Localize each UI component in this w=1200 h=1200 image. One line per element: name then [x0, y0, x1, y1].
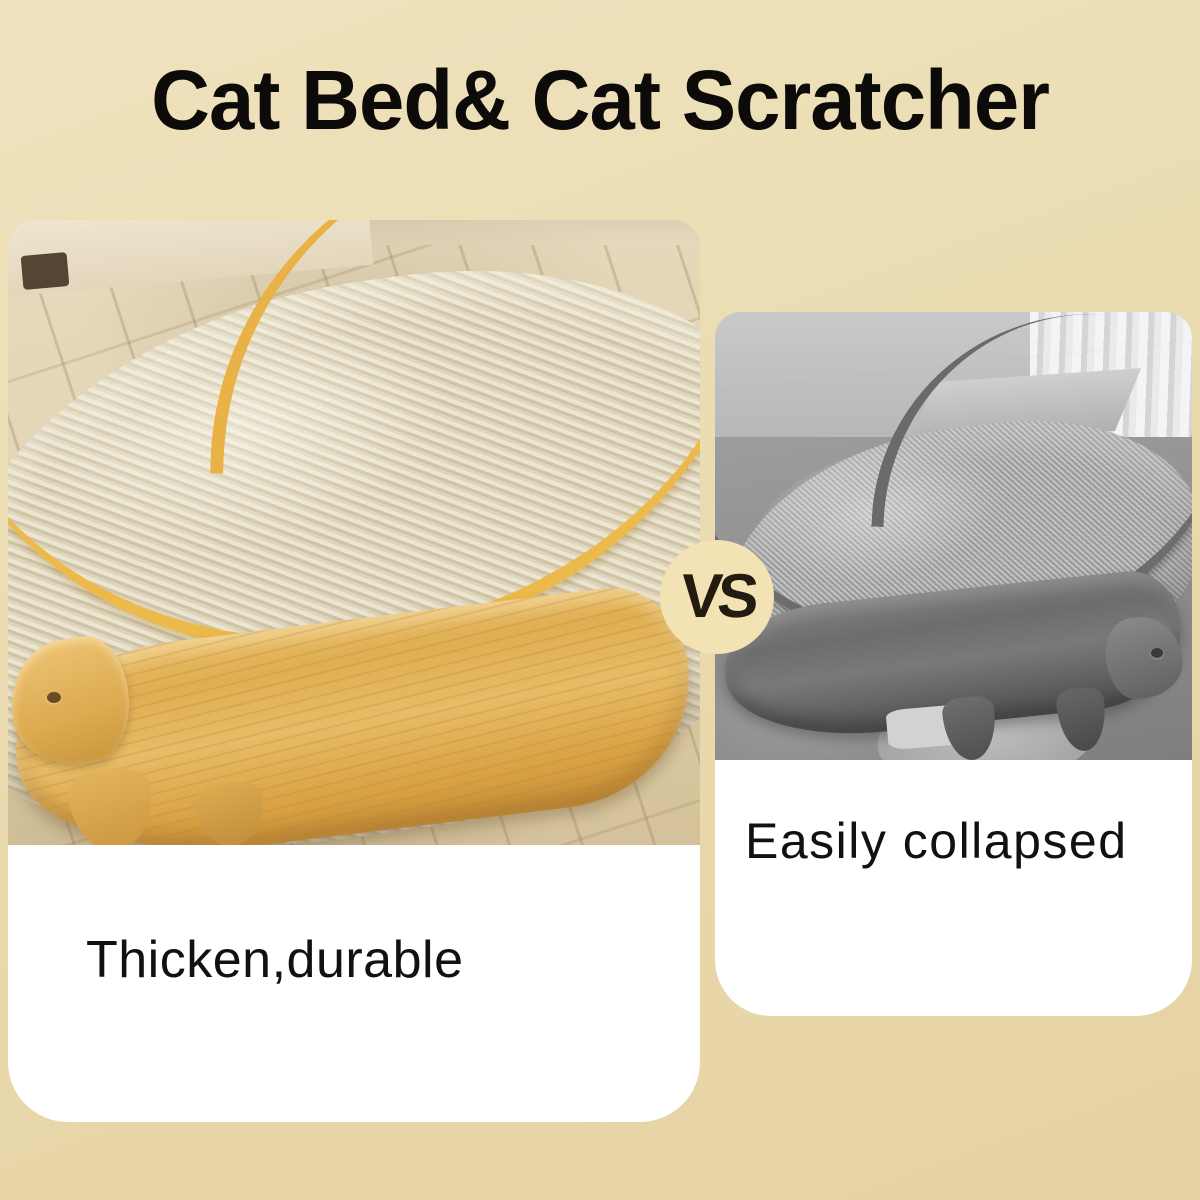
caption-card-right [715, 760, 1192, 1016]
page-title: Cat Bed& Cat Scratcher [18, 58, 1182, 142]
vs-badge: VS [660, 540, 774, 654]
screw-hole-icon [47, 692, 61, 703]
product-photo-left [8, 220, 700, 845]
caption-right-text: Easily collapsed [745, 812, 1128, 870]
wood-scene [8, 220, 700, 845]
vs-label: VS [678, 566, 755, 628]
product-photo-right [715, 312, 1192, 760]
grey-scene [715, 312, 1192, 760]
caption-left-text: Thicken,durable [86, 930, 464, 990]
